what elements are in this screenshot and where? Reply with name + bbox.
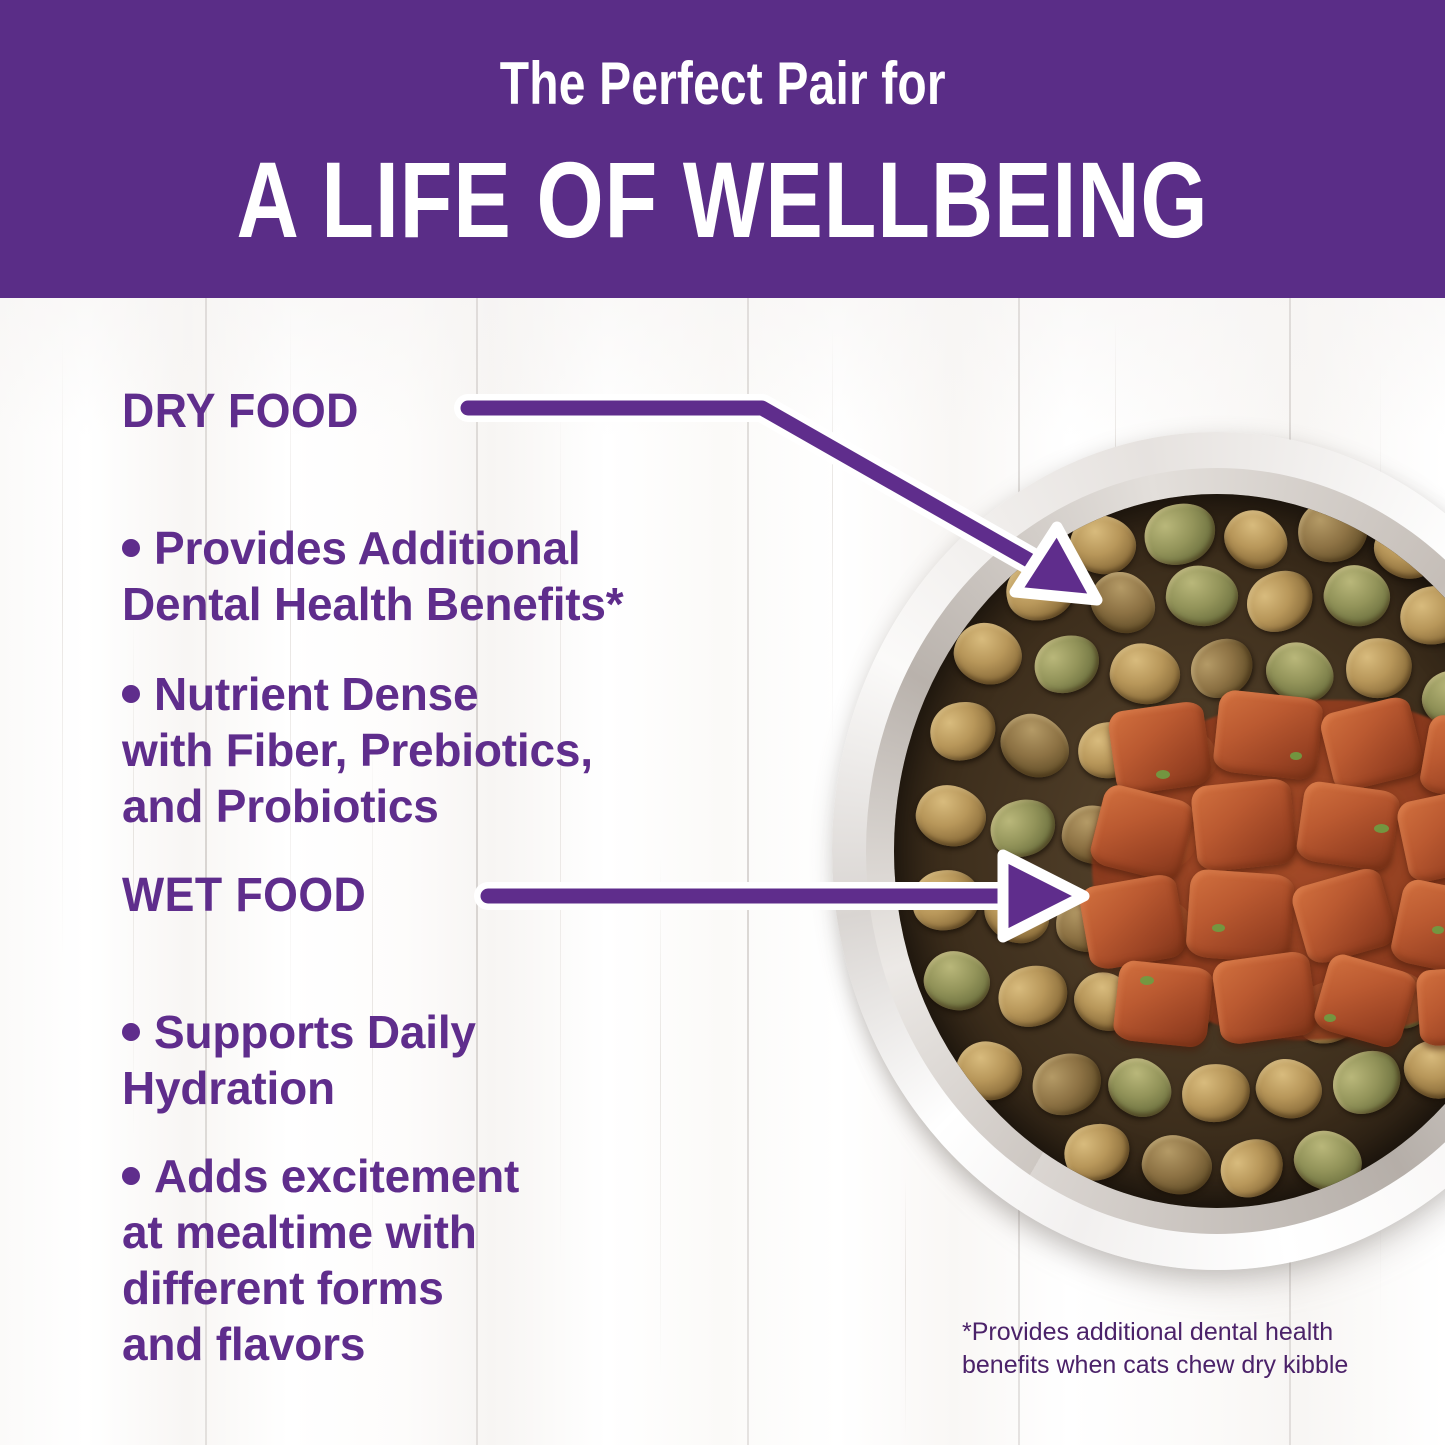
header-eyebrow: The Perfect Pair for bbox=[499, 54, 945, 114]
bullet-dot-icon bbox=[122, 1167, 140, 1185]
bullet-dot-icon bbox=[122, 1023, 140, 1041]
bullet-dry-2-text: Nutrient Dense with Fiber, Prebiotics, a… bbox=[122, 668, 593, 832]
bullet-dot-icon bbox=[122, 539, 140, 557]
bullet-wet-2-text: Adds excitement at mealtime with differe… bbox=[122, 1150, 519, 1370]
footnote-disclaimer: *Provides additional dental health benef… bbox=[962, 1316, 1392, 1381]
wood-grain bbox=[62, 338, 63, 958]
bullet-dry-2: Nutrient Dense with Fiber, Prebiotics, a… bbox=[122, 610, 593, 834]
bullet-wet-2: Adds excitement at mealtime with differe… bbox=[122, 1092, 519, 1373]
page-title: A LIFE OF WELLBEING bbox=[237, 146, 1209, 254]
cat-food-bowl-image bbox=[832, 432, 1445, 1302]
plank-seam bbox=[747, 298, 749, 1445]
bullet-dot-icon bbox=[122, 685, 140, 703]
header-banner: The Perfect Pair for A LIFE OF WELLBEING bbox=[0, 0, 1445, 298]
section-heading-wet-food: WET FOOD bbox=[122, 868, 366, 923]
wood-grain bbox=[660, 858, 661, 1378]
section-heading-dry-food: DRY FOOD bbox=[122, 384, 359, 439]
poster-root: The Perfect Pair for A LIFE OF WELLBEING… bbox=[0, 0, 1445, 1445]
bullet-dry-1: Provides Additional Dental Health Benefi… bbox=[122, 464, 624, 632]
